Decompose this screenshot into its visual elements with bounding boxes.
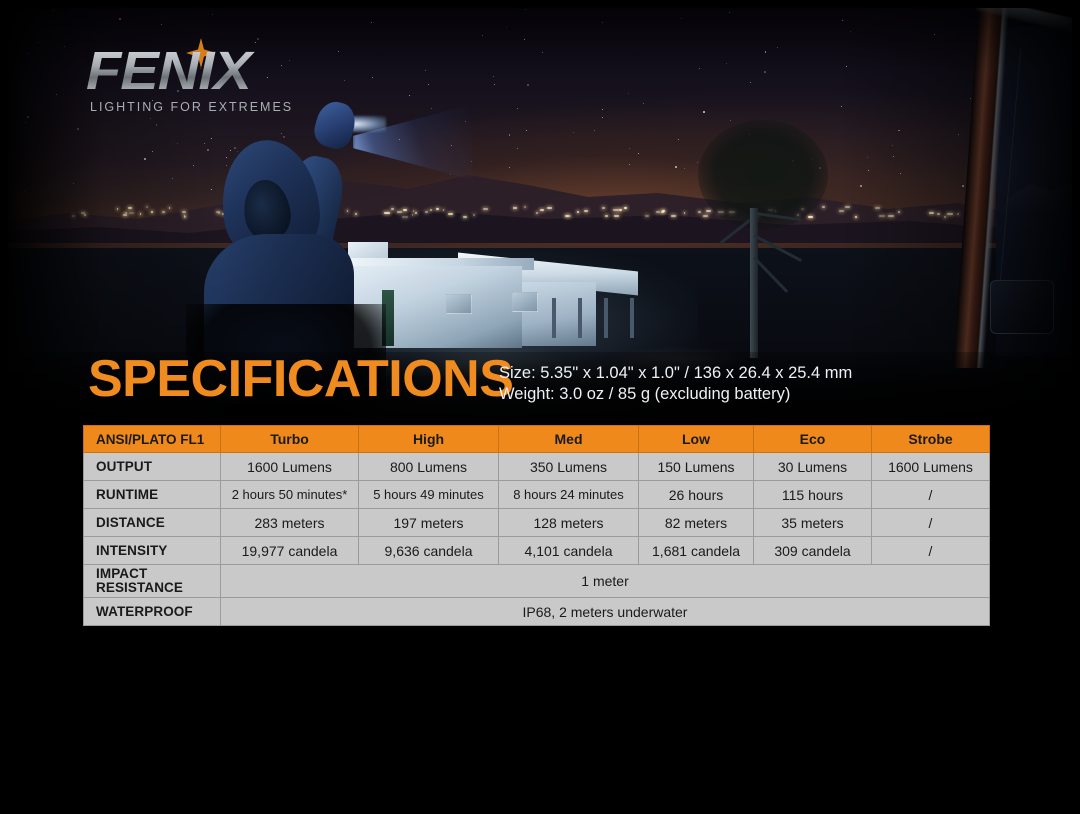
cell-distance-strobe: / [872, 509, 990, 537]
impact-label-line1: IMPACT [96, 566, 147, 581]
city-light-speck [443, 209, 445, 211]
distant-city-lights [8, 206, 1072, 220]
city-light-speck [662, 210, 665, 212]
city-light-speck [151, 211, 154, 213]
city-light-speck [146, 206, 149, 208]
city-light-speck [483, 208, 488, 210]
tree-branch [753, 234, 802, 262]
cell-runtime-turbo: 2 hours 50 minutes* [221, 481, 359, 509]
specifications-table: ANSI/PLATO FL1 Turbo High Med Low Eco St… [83, 425, 990, 626]
city-light-speck [117, 208, 119, 210]
city-light-speck [845, 206, 850, 208]
city-light-speck [129, 212, 134, 214]
city-light-speck [430, 209, 433, 211]
cell-runtime-low: 26 hours [639, 481, 754, 509]
city-light-speck [128, 207, 133, 209]
cell-intensity-turbo: 19,977 candela [221, 537, 359, 565]
city-light-speck [584, 210, 588, 212]
city-light-speck [123, 214, 128, 216]
cell-distance-eco: 35 meters [754, 509, 872, 537]
city-light-speck [879, 215, 885, 217]
star-dot [493, 76, 494, 77]
city-light-speck [169, 207, 171, 209]
city-light-speck [162, 211, 164, 213]
city-light-speck [602, 207, 606, 209]
column-header-turbo: Turbo [221, 426, 359, 453]
city-light-speck [436, 208, 439, 210]
star-dot [602, 109, 603, 110]
building-window-1 [446, 294, 472, 314]
table-row: OUTPUT 1600 Lumens 800 Lumens 350 Lumens… [84, 453, 990, 481]
row-label-distance: DISTANCE [84, 509, 221, 537]
star-dot [867, 157, 868, 158]
table-row: RUNTIME 2 hours 50 minutes* 5 hours 49 m… [84, 481, 990, 509]
column-header-strobe: Strobe [872, 426, 990, 453]
city-light-speck [577, 211, 579, 213]
star-dot [482, 35, 483, 36]
table-header-row: ANSI/PLATO FL1 Turbo High Med Low Eco St… [84, 426, 990, 453]
star-dot [730, 120, 731, 121]
city-light-speck [72, 215, 75, 217]
cell-runtime-high: 5 hours 49 minutes [359, 481, 499, 509]
table-row: WATERPROOF IP68, 2 meters underwater [84, 598, 990, 626]
star-dot [64, 46, 65, 47]
row-label-impact-resistance: IMPACTRESISTANCE [84, 565, 221, 598]
column-header-ansi: ANSI/PLATO FL1 [84, 426, 221, 453]
city-light-speck [448, 213, 453, 215]
page-title: SPECIFICATIONS [88, 353, 513, 405]
cell-intensity-med: 4,101 candela [499, 537, 639, 565]
star-dot [681, 18, 682, 19]
weight-line: Weight: 3.0 oz / 85 g (excluding battery… [499, 384, 852, 405]
city-light-speck [547, 207, 552, 209]
table-row: INTENSITY 19,977 candela 9,636 candela 4… [84, 537, 990, 565]
cell-intensity-strobe: / [872, 537, 990, 565]
cell-intensity-low: 1,681 candela [639, 537, 754, 565]
cell-intensity-high: 9,636 candela [359, 537, 499, 565]
cell-distance-low: 82 meters [639, 509, 754, 537]
city-light-speck [540, 209, 544, 211]
fenix-logo: FENIX LIGHTING FOR EXTREMES [86, 44, 306, 114]
cell-waterproof-value: IP68, 2 meters underwater [221, 598, 990, 626]
impact-label-line2: RESISTANCE [96, 580, 183, 595]
city-light-speck [661, 211, 664, 213]
cell-output-strobe: 1600 Lumens [872, 453, 990, 481]
cell-intensity-eco: 309 candela [754, 537, 872, 565]
city-light-speck [567, 215, 571, 217]
hooded-person [186, 94, 416, 394]
star-dot [850, 31, 851, 32]
column-header-high: High [359, 426, 499, 453]
city-light-speck [671, 215, 676, 217]
city-light-speck [605, 215, 608, 217]
star-dot [150, 118, 151, 119]
city-light-speck [645, 215, 649, 217]
mountain-ridge [8, 163, 1072, 243]
cell-output-turbo: 1600 Lumens [221, 453, 359, 481]
cell-output-eco: 30 Lumens [754, 453, 872, 481]
table-row: IMPACTRESISTANCE 1 meter [84, 565, 990, 598]
city-light-speck [463, 216, 468, 218]
star-dot [525, 9, 526, 10]
star-dot [602, 22, 603, 23]
cell-distance-turbo: 283 meters [221, 509, 359, 537]
star-dot [527, 84, 529, 86]
city-light-speck [875, 207, 880, 209]
tree-branch [753, 256, 789, 293]
cell-output-med: 350 Lumens [499, 453, 639, 481]
city-light-speck [524, 206, 526, 208]
city-light-speck [425, 211, 429, 213]
city-light-speck [888, 215, 893, 217]
vehicle-window-frame [938, 8, 1072, 368]
cell-distance-high: 197 meters [359, 509, 499, 537]
logo-wordmark: FENIX [86, 44, 321, 98]
city-light-speck [656, 211, 660, 213]
city-light-speck [684, 212, 686, 214]
specifications-header: SPECIFICATIONS Size: 5.35" x 1.04" x 1.0… [88, 357, 988, 419]
city-light-speck [613, 209, 618, 211]
city-light-speck [614, 215, 619, 217]
vehicle-side-mirror [990, 280, 1054, 334]
star-dot [638, 153, 639, 154]
table-row: DISTANCE 283 meters 197 meters 128 meter… [84, 509, 990, 537]
city-light-speck [182, 211, 186, 213]
city-light-speck [513, 207, 517, 209]
star-dot [428, 84, 429, 85]
city-light-speck [839, 210, 843, 212]
city-light-speck [898, 211, 900, 213]
star-dot [119, 18, 121, 20]
star-dot [144, 158, 146, 160]
star-dot [934, 34, 935, 35]
city-light-speck [855, 216, 857, 218]
column-header-med: Med [499, 426, 639, 453]
row-label-waterproof: WATERPROOF [84, 598, 221, 626]
column-header-low: Low [639, 426, 754, 453]
city-light-speck [140, 213, 142, 215]
star-dot [842, 20, 843, 21]
cell-runtime-med: 8 hours 24 minutes [499, 481, 639, 509]
cell-runtime-eco: 115 hours [754, 481, 872, 509]
size-weight-block: Size: 5.35" x 1.04" x 1.0" / 136 x 26.4 … [499, 363, 852, 405]
star-dot [526, 130, 527, 131]
row-label-runtime: RUNTIME [84, 481, 221, 509]
city-light-speck [624, 207, 627, 209]
city-light-speck [473, 214, 476, 216]
row-label-output: OUTPUT [84, 453, 221, 481]
star-dot [729, 12, 730, 13]
size-line: Size: 5.35" x 1.04" x 1.0" / 136 x 26.4 … [499, 363, 852, 384]
star-dot [77, 128, 79, 130]
column-header-eco: Eco [754, 426, 872, 453]
person-hand-holding-flashlight [311, 98, 360, 152]
cell-output-high: 800 Lumens [359, 453, 499, 481]
cell-runtime-strobe: / [872, 481, 990, 509]
city-light-speck [929, 212, 934, 214]
city-light-speck [619, 209, 622, 211]
city-light-speck [84, 214, 86, 216]
star-dot [699, 68, 700, 69]
cell-impact-resistance-value: 1 meter [221, 565, 990, 598]
row-label-intensity: INTENSITY [84, 537, 221, 565]
logo-tagline: LIGHTING FOR EXTREMES [90, 100, 293, 114]
product-spec-page: FENIX LIGHTING FOR EXTREMES SPECIFICATIO… [0, 0, 1080, 814]
cell-distance-med: 128 meters [499, 509, 639, 537]
cell-output-low: 150 Lumens [639, 453, 754, 481]
star-dot [56, 94, 57, 95]
city-light-speck [536, 212, 538, 214]
building-window-2 [512, 292, 538, 312]
